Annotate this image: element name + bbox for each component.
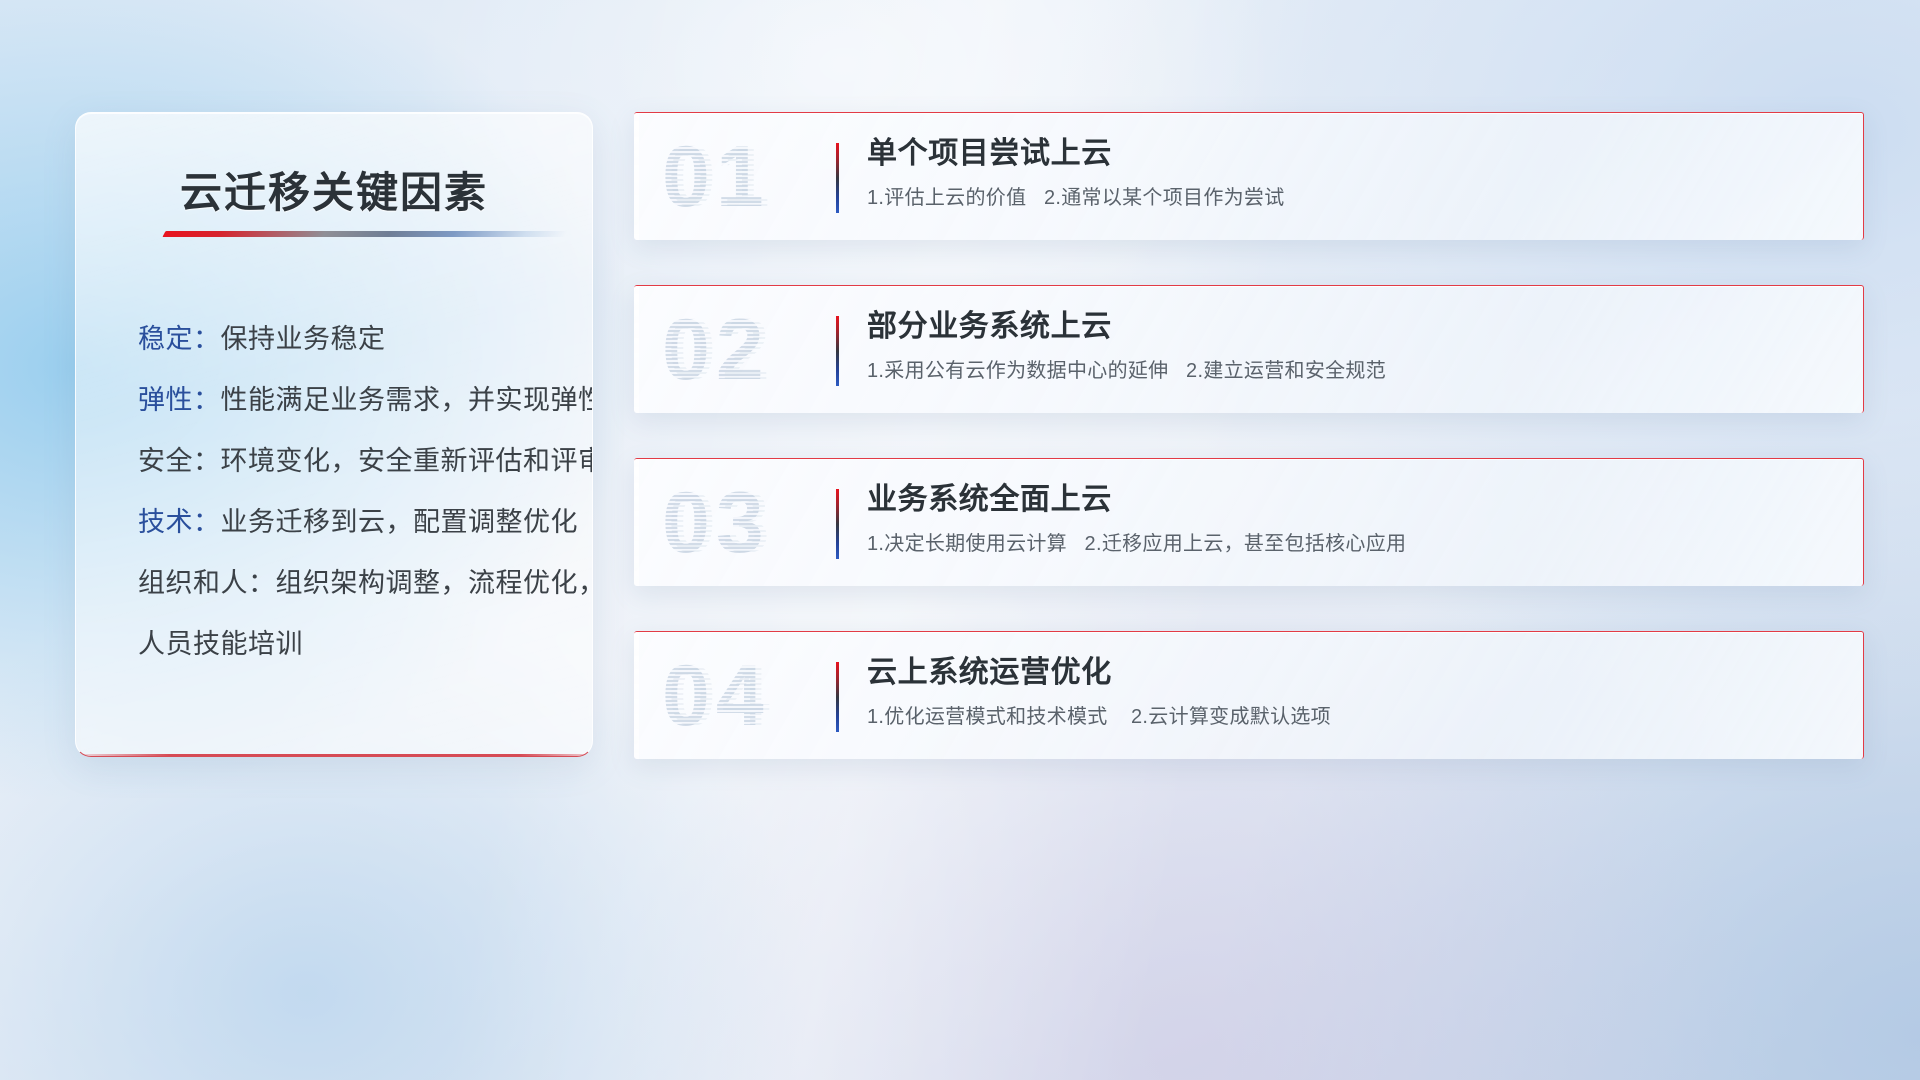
stage-card-subtitle: 1.采用公有云作为数据中心的延伸 2.建立运营和安全规范 <box>867 357 1837 385</box>
key-factor-item: 稳定：保持业务稳定 <box>138 309 558 370</box>
stage-card-subtitle: 1.评估上云的价值 2.通常以某个项目作为尝试 <box>867 184 1837 212</box>
stage-card[interactable]: 0202部分业务系统上云1.采用公有云作为数据中心的延伸 2.建立运营和安全规范 <box>634 285 1864 413</box>
key-factor-label: 技术： <box>138 507 221 537</box>
stage-card[interactable]: 0303业务系统全面上云1.决定长期使用云计算 2.迁移应用上云，甚至包括核心应… <box>634 458 1864 586</box>
key-factors-panel: 云迁移关键因素 稳定：保持业务稳定弹性：性能满足业务需求，并实现弹性安全：环境变… <box>75 112 593 757</box>
stage-card-subtitle: 1.优化运营模式和技术模式 2.云计算变成默认选项 <box>867 703 1837 731</box>
stage-card-body: 单个项目尝试上云1.评估上云的价值 2.通常以某个项目作为尝试 <box>867 133 1837 212</box>
stage-cards-list: 0101单个项目尝试上云1.评估上云的价值 2.通常以某个项目作为尝试0202部… <box>634 112 1864 804</box>
key-factor-text: 业务迁移到云，配置调整优化 <box>221 507 579 537</box>
title-divider <box>162 231 567 237</box>
stage-accent-bar <box>836 143 839 213</box>
stage-card-title: 单个项目尝试上云 <box>867 133 1837 175</box>
key-factor-item: 技术：业务迁移到云，配置调整优化 <box>138 492 558 553</box>
key-factor-label: 安全： <box>138 446 221 476</box>
stage-card[interactable]: 0101单个项目尝试上云1.评估上云的价值 2.通常以某个项目作为尝试 <box>634 112 1864 240</box>
key-factor-text: 保持业务稳定 <box>221 324 386 354</box>
stage-card-body: 部分业务系统上云1.采用公有云作为数据中心的延伸 2.建立运营和安全规范 <box>867 306 1837 385</box>
key-factor-item: 弹性：性能满足业务需求，并实现弹性 <box>138 370 558 431</box>
stage-card[interactable]: 0404云上系统运营优化1.优化运营模式和技术模式 2.云计算变成默认选项 <box>634 631 1864 759</box>
key-factor-label: 组织和人： <box>138 568 276 598</box>
key-factor-label: 弹性： <box>138 385 221 415</box>
key-factor-text: 组织架构调整，流程优化， <box>276 568 594 598</box>
stage-number: 02 <box>662 294 847 406</box>
key-factor-text: 人员技能培训 <box>138 629 303 659</box>
page-title: 云迁移关键因素 <box>76 159 592 220</box>
key-factor-item: 组织和人：组织架构调整，流程优化， <box>138 553 558 614</box>
stage-card-title: 业务系统全面上云 <box>867 479 1837 521</box>
stage-accent-bar <box>836 316 839 386</box>
key-factor-item: 人员技能培训 <box>138 614 558 675</box>
stage-accent-bar <box>836 662 839 732</box>
stage-card-title: 部分业务系统上云 <box>867 306 1837 348</box>
stage-card-subtitle: 1.决定长期使用云计算 2.迁移应用上云，甚至包括核心应用 <box>867 530 1837 558</box>
key-factor-label: 稳定： <box>138 324 221 354</box>
key-factor-text: 环境变化，安全重新评估和评审 <box>221 446 594 476</box>
key-factors-list: 稳定：保持业务稳定弹性：性能满足业务需求，并实现弹性安全：环境变化，安全重新评估… <box>138 309 558 675</box>
key-factor-text: 性能满足业务需求，并实现弹性 <box>221 385 594 415</box>
key-factor-item: 安全：环境变化，安全重新评估和评审 <box>138 431 558 492</box>
stage-card-body: 云上系统运营优化1.优化运营模式和技术模式 2.云计算变成默认选项 <box>867 652 1837 731</box>
stage-number: 01 <box>662 121 847 233</box>
stage-number: 03 <box>662 467 847 579</box>
stage-card-body: 业务系统全面上云1.决定长期使用云计算 2.迁移应用上云，甚至包括核心应用 <box>867 479 1837 558</box>
stage-number: 04 <box>662 640 847 752</box>
stage-accent-bar <box>836 489 839 559</box>
stage-card-title: 云上系统运营优化 <box>867 652 1837 694</box>
